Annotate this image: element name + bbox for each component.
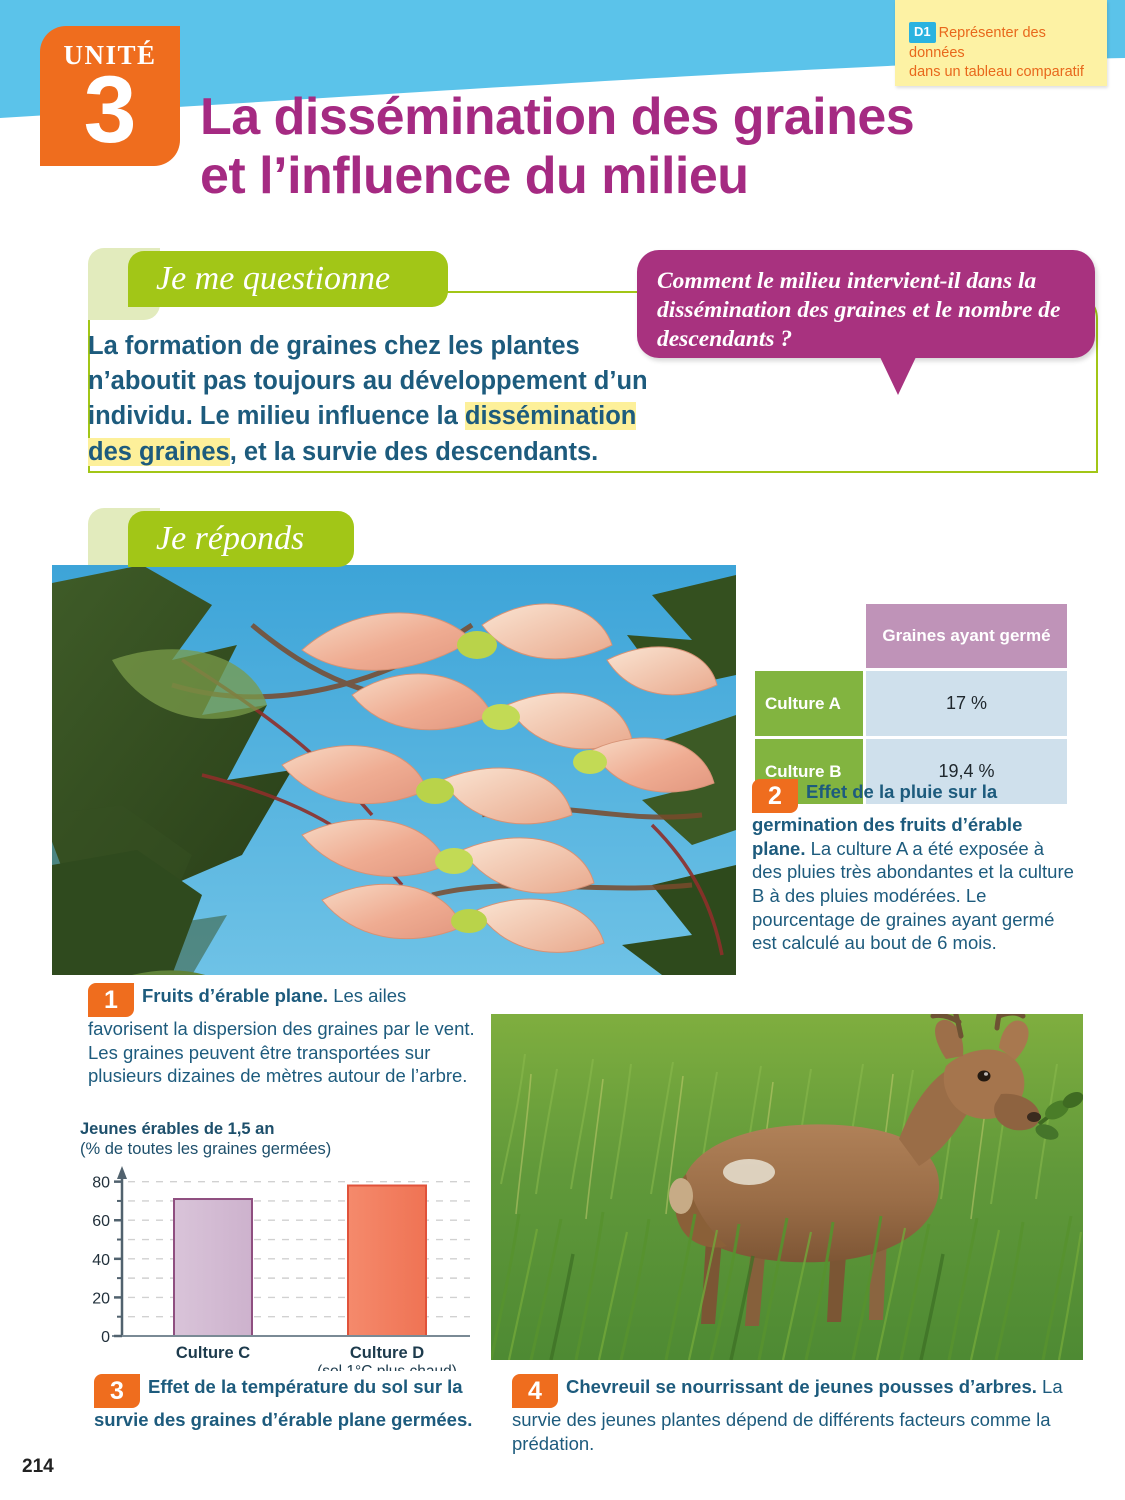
svg-text:20: 20 xyxy=(92,1290,110,1307)
chart-subtitle: (% de toutes les graines germées) xyxy=(80,1140,480,1160)
page-title: La dissémination des graines et l’influe… xyxy=(200,88,1030,206)
chart-title: Jeunes érables de 1,5 an xyxy=(80,1120,480,1140)
tab-je-reponds: Je réponds xyxy=(128,511,354,567)
svg-text:60: 60 xyxy=(92,1213,110,1230)
page-title-line-2: et l’influence du milieu xyxy=(200,147,749,205)
table-row-label-culture-a: Culture A xyxy=(755,671,863,736)
deer-illustration xyxy=(491,1014,1083,1360)
speech-bubble-tail xyxy=(880,357,916,395)
chart-x-axis-labels: Culture CCulture D(sol 1°C plus chaud) xyxy=(176,1344,457,1371)
maple-seeds-photo xyxy=(52,565,736,975)
svg-text:Culture C: Culture C xyxy=(176,1344,250,1362)
survival-bar-chart: Jeunes érables de 1,5 an (% de toutes le… xyxy=(80,1120,480,1370)
speech-bubble-text: Comment le milieu intervient-il dans la … xyxy=(657,267,1073,354)
figure-1-title: Fruits d’érable plane. xyxy=(142,985,328,1006)
figure-4-title: Chevreuil se nourrissant de jeunes pouss… xyxy=(566,1376,1037,1397)
chart-plot-area: 020406080 Culture CCulture D(sol 1°C plu… xyxy=(80,1166,480,1371)
table-row: Culture A 17 % xyxy=(755,671,1067,736)
chart-y-axis-ticks: 020406080 xyxy=(92,1174,122,1345)
figure-2-number-badge: 2 xyxy=(752,779,798,813)
table-corner-cell xyxy=(755,604,863,668)
unit-badge: UNITÉ 3 xyxy=(40,26,180,166)
figure-4-number-badge: 4 xyxy=(512,1374,558,1408)
svg-text:Culture D: Culture D xyxy=(350,1344,424,1362)
svg-text:0: 0 xyxy=(101,1329,110,1346)
competency-sticky-note: D1Représenter des données dans un tablea… xyxy=(895,0,1107,86)
page-title-line-1: La dissémination des graines xyxy=(200,88,914,146)
d1-badge: D1 xyxy=(909,22,936,43)
tab-questionne-label: Je me questionne xyxy=(156,260,390,298)
germination-table: Graines ayant germé Culture A 17 % Cultu… xyxy=(752,601,1070,807)
question-intro-text: La formation de graines chez les plantes… xyxy=(88,329,648,470)
svg-text:40: 40 xyxy=(92,1251,110,1268)
figure-3-caption: 3Effet de la température du sol sur la s… xyxy=(94,1374,474,1432)
tab-je-me-questionne: Je me questionne xyxy=(128,251,448,307)
figure-2-caption: 2Effet de la pluie sur la germination de… xyxy=(752,779,1077,955)
figure-4-caption: 4Chevreuil se nourrissant de jeunes pous… xyxy=(512,1374,1082,1455)
question-speech-bubble: Comment le milieu intervient-il dans la … xyxy=(637,250,1095,358)
figure-1-caption: 1Fruits d’érable plane. Les ailes favori… xyxy=(88,983,488,1088)
unit-number: 3 xyxy=(40,67,180,154)
tab-reponds-label: Je réponds xyxy=(156,520,304,558)
page-number: 214 xyxy=(22,1456,54,1478)
question-text-post: , et la survie des descendants. xyxy=(230,438,599,466)
svg-text:(sol 1°C plus chaud): (sol 1°C plus chaud) xyxy=(317,1363,457,1371)
sticky-line-2: dans un tableau comparatif xyxy=(909,64,1084,80)
chart-bars xyxy=(174,1185,426,1335)
svg-text:80: 80 xyxy=(92,1174,110,1191)
maple-seeds-illustration xyxy=(52,565,736,975)
figure-3-title: Effet de la température du sol sur la su… xyxy=(94,1376,472,1430)
table-value-culture-a: 17 % xyxy=(866,671,1067,736)
sticky-note-text: D1Représenter des données dans un tablea… xyxy=(909,22,1095,83)
figure-1-number-badge: 1 xyxy=(88,983,134,1017)
table-column-header: Graines ayant germé xyxy=(866,604,1067,668)
table-header-row: Graines ayant germé xyxy=(755,604,1067,668)
deer-photo xyxy=(491,1014,1083,1360)
figure-3-number-badge: 3 xyxy=(94,1374,140,1408)
